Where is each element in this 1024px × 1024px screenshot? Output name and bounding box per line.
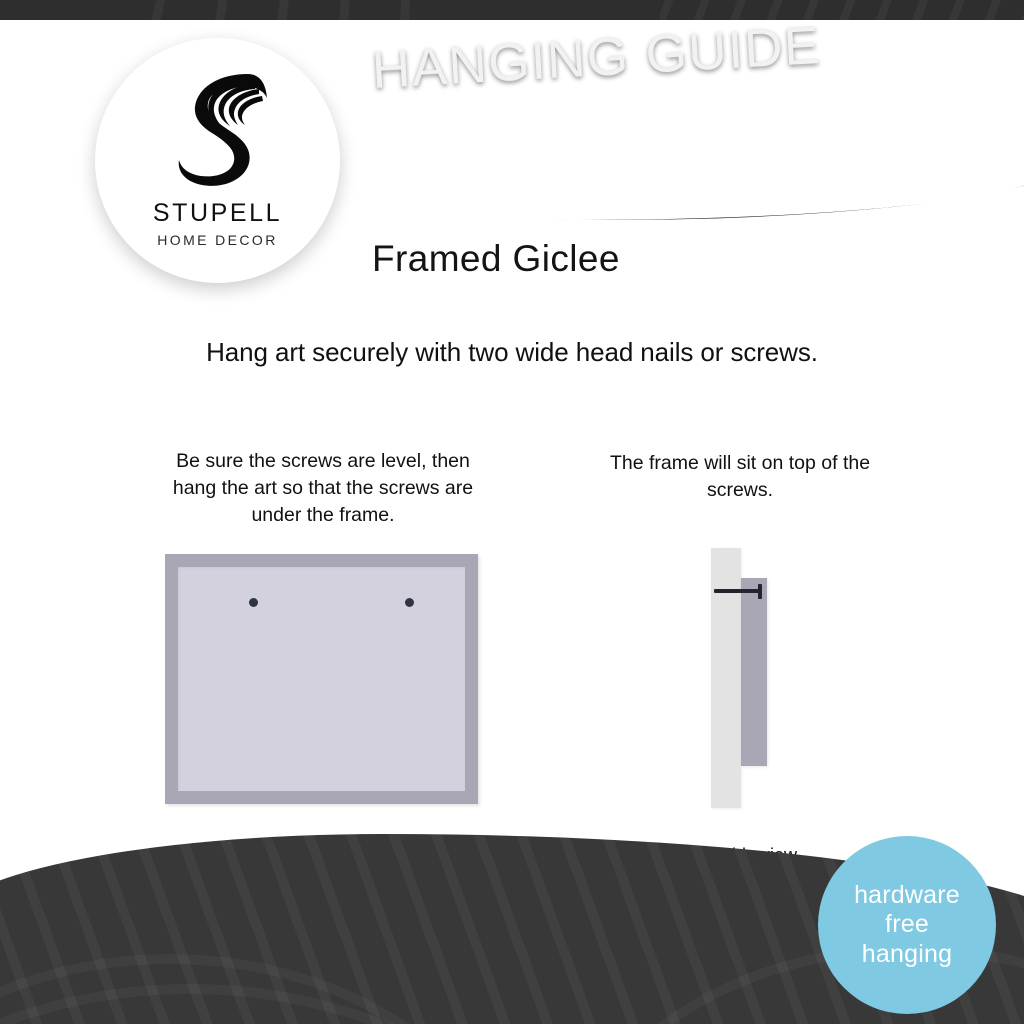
badge-line-2: free	[885, 910, 929, 939]
side-view-caption: The frame will sit on top of the screws.	[590, 450, 890, 504]
nail-shaft-icon	[714, 589, 760, 593]
footer-arc-texture	[0, 954, 520, 1024]
side-view-frame	[741, 578, 767, 766]
hardware-free-hanging-badge: hardware free hanging	[818, 836, 996, 1014]
front-view-art-area	[178, 567, 465, 791]
side-view-diagram	[705, 540, 815, 815]
footer-arc-texture	[0, 984, 600, 1024]
page-title: HANGING GUIDE	[370, 15, 822, 101]
front-view-diagram	[165, 554, 478, 804]
logo-badge: STUPELL HOME DECOR	[95, 38, 340, 283]
side-view-label: side view	[660, 845, 860, 866]
product-title: Framed Giclee	[372, 238, 620, 280]
logo-name: STUPELL	[153, 199, 282, 228]
badge-line-1: hardware	[854, 881, 960, 910]
hanging-guide-page: HANGING GUIDE STUPELL HOME DECOR Framed …	[0, 0, 1024, 1024]
screw-dot-right-icon	[405, 598, 414, 607]
badge-line-3: hanging	[862, 940, 952, 969]
front-view-label: front view	[165, 835, 478, 856]
nail-head-icon	[758, 584, 762, 599]
logo-subtitle: HOME DECOR	[157, 232, 277, 248]
page-title-wrap: HANGING GUIDE	[370, 15, 822, 101]
screw-dot-left-icon	[249, 598, 258, 607]
front-view-caption: Be sure the screws are level, then hang …	[158, 448, 488, 529]
side-view-wall	[711, 548, 741, 808]
lead-instruction: Hang art securely with two wide head nai…	[0, 337, 1024, 368]
stupell-swirl-s-icon	[152, 64, 284, 197]
